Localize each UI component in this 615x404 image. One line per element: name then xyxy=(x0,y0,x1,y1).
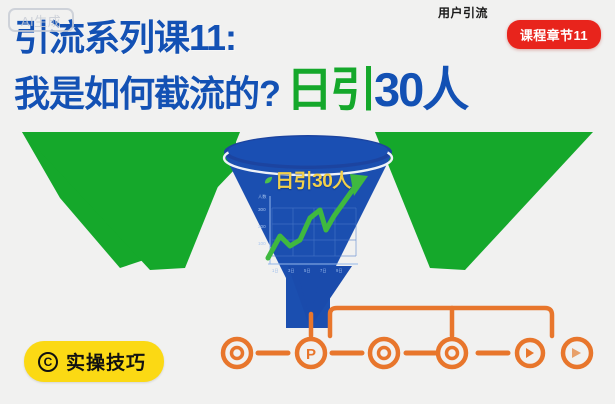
p-letter-icon: P xyxy=(306,346,316,363)
right-wing-shape xyxy=(375,132,593,270)
node-conversion[interactable] xyxy=(438,339,466,367)
node-play-first[interactable] xyxy=(517,340,543,366)
play-arrow-icon xyxy=(526,348,534,358)
headline-line-2: 我是如何截流的? 日引 30人 xyxy=(14,66,467,113)
chapter-badge: 课程章节11 xyxy=(507,20,601,49)
svg-text:200: 200 xyxy=(258,224,266,229)
tip-badge-label: 实操技巧 xyxy=(66,348,146,375)
node-origin[interactable] xyxy=(223,339,251,367)
node-platform[interactable]: P xyxy=(297,339,325,367)
svg-text:300: 300 xyxy=(258,207,266,212)
funnel-rim-inner xyxy=(228,137,388,166)
flow-bracket xyxy=(330,308,552,336)
headline-highlight-green: 日引 xyxy=(286,66,374,113)
copyright-icon: C xyxy=(38,352,58,372)
play-arrow-icon xyxy=(572,348,581,358)
node-play-second[interactable] xyxy=(563,339,591,367)
poster-root: AI生成 引流系列课11: 我是如何截流的? 日引 30人 课程章节11 xyxy=(0,0,615,404)
copyright-icon-glyph: C xyxy=(44,356,53,368)
ai-watermark-label: AI生成 xyxy=(21,11,61,30)
svg-text:1日: 1日 xyxy=(272,268,279,274)
flow-label: 用户引流 xyxy=(398,4,528,21)
headline: 引流系列课11: 我是如何截流的? 日引 30人 xyxy=(14,20,467,113)
left-wing-shape-b xyxy=(22,132,240,270)
headline-line-1: 引流系列课11: xyxy=(14,20,467,56)
node-traffic[interactable] xyxy=(370,339,398,367)
headline-highlight-blue: 30人 xyxy=(374,66,467,113)
chapter-badge-label: 课程章节11 xyxy=(520,28,588,43)
ai-watermark: AI生成 xyxy=(8,8,74,32)
headline-question: 我是如何截流的? xyxy=(14,76,280,112)
dot-circle-icon xyxy=(379,348,390,359)
svg-text:人数: 人数 xyxy=(258,193,267,200)
tip-badge: C 实操技巧 xyxy=(24,341,164,382)
svg-text:100: 100 xyxy=(258,241,266,246)
dot-circle-icon xyxy=(447,348,458,359)
dot-circle-icon xyxy=(232,348,243,359)
